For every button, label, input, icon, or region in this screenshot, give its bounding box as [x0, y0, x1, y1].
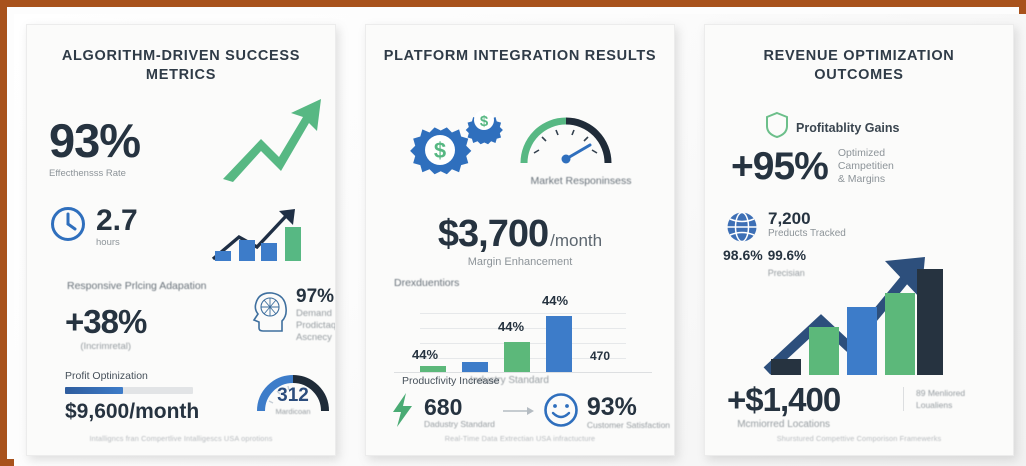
gauge-label: Mardicoan: [255, 407, 331, 416]
lightning-bolt-icon: [390, 392, 416, 433]
panel-footnote: Intalligncs fran Compertlive Intalligesc…: [27, 434, 335, 443]
monitored-locations: 89 Menliored Loualiens: [903, 387, 965, 411]
panel-platform-integration-results[interactable]: PLATFORM INTEGRATION RESULTS $ $: [365, 24, 675, 456]
time-metric: 2.7 hours: [49, 205, 138, 248]
panel-algorithm-driven-success-metrics[interactable]: ALGORITHM-DRIVEN SUCCESS METRICS 93% Eff…: [26, 24, 336, 456]
side-label: Loualiens: [916, 399, 965, 411]
revenue-label: Mcmiorred Locations: [727, 419, 840, 430]
shield-icon: [765, 111, 789, 144]
infographic-frame: ALGORITHM-DRIVEN SUCCESS METRICS 93% Eff…: [0, 0, 1026, 466]
hero-metric: +95% Optimized Campetitien & Margins: [731, 147, 894, 186]
panel-revenue-optimization-outcomes[interactable]: REVENUE OPTIMIZATION OUTCOMES Profitabli…: [704, 24, 1014, 456]
profit-optimization: Profit Optinization $9,600/month: [65, 370, 199, 422]
revenue-metric: +$1,400 Mcmiorred Locations: [727, 383, 840, 430]
svg-text:$: $: [434, 138, 446, 163]
chart-annotation: 470: [590, 349, 610, 363]
chart-bars: [420, 316, 572, 372]
brain-head-icon: [249, 287, 289, 338]
chart-bar: [504, 342, 530, 372]
profit-progress-bar: [65, 387, 193, 394]
accuracy-metric: 97% Demand Prodictaq Ascnecy: [249, 287, 336, 344]
increment-metric: +38% (Incrimretal): [65, 305, 146, 352]
smiley-face-icon: [543, 392, 579, 433]
gears-dollar-icon: $ $: [408, 100, 504, 185]
right-arrow-icon: [503, 404, 535, 422]
panel-title: ALGORITHM-DRIVEN SUCCESS METRICS: [27, 25, 335, 85]
to-label: Customer Satisfaction: [587, 420, 670, 430]
panel-footnote: Real-Time Data Extrectian USA infractuct…: [366, 434, 674, 443]
time-value: 2.7: [96, 206, 138, 236]
hero-label: Effecthensss Rate: [49, 168, 140, 179]
productivity-label: Producfivity Increase: [402, 375, 499, 387]
hero-metric: 93% Effecthensss Rate: [49, 117, 140, 179]
accuracy-value: 97%: [296, 287, 336, 306]
revenue-value: +$1,400: [727, 383, 840, 416]
gauge-value: 312: [255, 385, 331, 407]
clock-icon: [49, 205, 87, 248]
hero-label: Optimized Campetitien & Margins: [838, 147, 894, 186]
chart-bar: [462, 362, 488, 372]
profitability-gains: Profitablity Gains: [765, 111, 900, 144]
money-metric: $3,700 /month Margin Enhancement: [366, 215, 674, 268]
from-label: Dadustry Standard: [424, 419, 495, 429]
money-unit: /month: [550, 231, 602, 251]
increment-label: (Incrimretal): [65, 341, 146, 352]
green-growth-arrow-icon: [217, 87, 327, 187]
to-value: 93%: [587, 395, 670, 420]
svg-text:$: $: [480, 113, 489, 130]
chart-data-label: 44%: [412, 347, 438, 362]
gauge-label: Market Responinsess: [511, 175, 651, 187]
chart-data-label: 44%: [498, 319, 524, 334]
bar-chart: Drexduentiors 44% 44% 44%: [394, 277, 652, 373]
profit-progress-fill: [65, 387, 123, 394]
money-label: Margin Enhancement: [366, 256, 674, 268]
chart-bar: [546, 316, 572, 372]
chart-title: Drexduentiors: [394, 277, 652, 289]
profit-amount: $9,600/month: [65, 401, 199, 422]
panel-title: REVENUE OPTIMIZATION OUTCOMES: [705, 25, 1013, 85]
side-value: 89 Menliored: [916, 387, 965, 399]
panel-title: PLATFORM INTEGRATION RESULTS: [366, 25, 674, 66]
shield-label: Profitablity Gains: [796, 121, 900, 135]
increment-value: +38%: [65, 305, 146, 338]
globe-icon: [725, 210, 759, 249]
hero-value: 93%: [49, 117, 140, 164]
gauge-metric: 312 Mardicoan: [255, 363, 331, 426]
globe-label: Preducts Tracked: [768, 228, 846, 239]
time-unit: hours: [96, 237, 138, 248]
accuracy-label: Demand Prodictaq Ascnecy: [296, 308, 336, 344]
panel-footnote: Shurstured Compettive Comporison Framewe…: [705, 434, 1013, 443]
growth-arrow-bars-icon: [757, 243, 947, 383]
chart-bar: [420, 366, 446, 372]
section-label-pricing: Responsive Prlcing Adapation: [67, 280, 207, 292]
infographic-stage: ALGORITHM-DRIVEN SUCCESS METRICS 93% Eff…: [14, 14, 1026, 466]
profit-label: Profit Optinization: [65, 370, 199, 382]
globe-value: 7,200: [768, 210, 846, 227]
hero-value: +95%: [731, 147, 828, 186]
productivity-row: 680 Dadustry Standard 93% Custom: [390, 392, 670, 433]
speedometer-icon: [518, 109, 614, 176]
money-value: $3,700: [438, 215, 548, 253]
bar-chart-trend-icon: [209, 203, 313, 270]
chart-data-label: 44%: [542, 293, 568, 308]
from-value: 680: [424, 396, 495, 419]
